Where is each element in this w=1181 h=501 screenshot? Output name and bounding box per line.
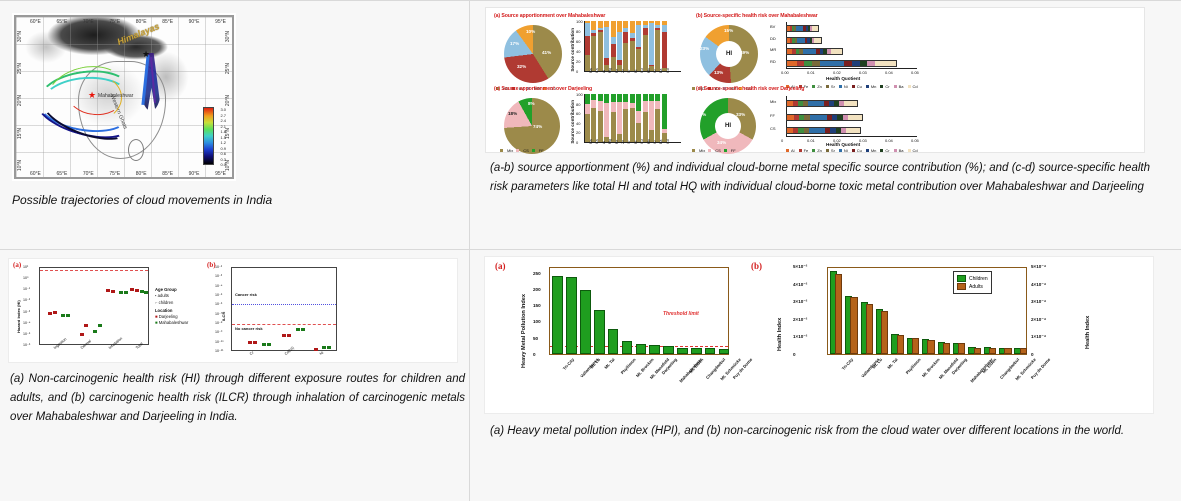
legend-swatch bbox=[786, 149, 789, 152]
bar-segment bbox=[623, 94, 628, 102]
bar-segment bbox=[623, 109, 628, 142]
panel-b-title: (b) Source-specific health risk over Mah… bbox=[696, 13, 818, 19]
ytick: 80 bbox=[576, 29, 580, 34]
donut-b-value-1: 13% bbox=[714, 70, 723, 75]
marker-ilcr-cr-m bbox=[262, 343, 266, 346]
xtick: 0 bbox=[781, 138, 783, 143]
bar-segment bbox=[585, 23, 590, 36]
marker-darjeeling-inhalation-2 bbox=[111, 290, 115, 293]
ytick: 10¹ bbox=[23, 265, 28, 269]
xlabel: Ni bbox=[319, 351, 324, 356]
hbar-segment bbox=[797, 61, 805, 66]
hbar-segment bbox=[846, 128, 860, 133]
hi-world-bar bbox=[989, 348, 996, 354]
xtick: 0.01 bbox=[807, 138, 815, 143]
donut-d-value-0: 33% bbox=[736, 112, 745, 117]
hbar-segment bbox=[820, 61, 845, 66]
xlabel: Al bbox=[602, 141, 606, 144]
stacked-bar bbox=[623, 21, 628, 71]
ytick: 10⁻⁴ bbox=[215, 284, 222, 288]
xtick: 0.00 bbox=[781, 70, 789, 75]
marker-ilcr-cr-m2 bbox=[267, 343, 271, 346]
panel-a-title: (a) Source apportionment over Mahabalesh… bbox=[494, 13, 605, 19]
hpi-xlabel: Phyllimon bbox=[619, 357, 636, 375]
hpi-ytick: 0 bbox=[533, 352, 536, 357]
bar-segment bbox=[617, 32, 622, 60]
hi-world-bar bbox=[866, 304, 873, 354]
hi-world-xlabel: Tri-City bbox=[841, 357, 854, 371]
hbar-label: Mix bbox=[770, 99, 776, 104]
br-panel-b-label: (b) bbox=[751, 261, 762, 271]
map-lat-ticks-left: 30°N25°N20°N15°N10°N bbox=[17, 31, 23, 171]
legend-metal-label: Ba bbox=[899, 84, 904, 89]
marker-ilcr-cd-d2 bbox=[287, 334, 291, 337]
hi-world-ytick-left: 0 bbox=[793, 352, 796, 357]
hi-world-ytick-right: 5×10⁻⁴ bbox=[1031, 264, 1046, 270]
marker-mahabaleshwar-ingestion bbox=[61, 314, 65, 317]
xlabel: Zn bbox=[621, 69, 625, 73]
legend-swatch bbox=[894, 149, 897, 152]
xlabel: Cr bbox=[249, 350, 255, 356]
bar-segment bbox=[649, 94, 654, 101]
legend-metal: Sr bbox=[826, 148, 835, 153]
hbar-segment bbox=[796, 26, 803, 31]
ytick: 10⁻² bbox=[23, 298, 30, 302]
bar-segment bbox=[585, 104, 590, 115]
hpi-ytick: 200 bbox=[533, 287, 541, 292]
legend-age-children: ⌐ children bbox=[155, 300, 188, 306]
hi-legend: Age Group ▪ adults ⌐ children Location ■… bbox=[155, 287, 188, 327]
hpi-xlabel: Tri-City bbox=[562, 357, 575, 371]
scatter-plot-hi bbox=[39, 267, 149, 345]
site-marker-darjeeling: ★ bbox=[142, 50, 150, 59]
ytick: 40 bbox=[576, 121, 580, 126]
ytick: 20 bbox=[576, 59, 580, 64]
legend-swatch bbox=[908, 149, 911, 152]
ilcr-no-cancer-risk-label: No cancer risk bbox=[235, 326, 263, 331]
bar-segment bbox=[591, 108, 596, 142]
xlabel: Sr bbox=[627, 69, 631, 73]
hpi-bar bbox=[677, 348, 688, 354]
pie-c-value-1: 18% bbox=[508, 111, 517, 116]
xlabel: Na bbox=[589, 68, 593, 73]
panel-d-xlabel: Health Quotient bbox=[826, 142, 860, 147]
cell-bottom-right: (a) Heavy Metal Pollution Index Threshol… bbox=[470, 250, 1181, 501]
donut-b-value-0: 49% bbox=[740, 50, 749, 55]
bar-segment bbox=[617, 21, 622, 32]
xlabel: Mg bbox=[608, 139, 612, 144]
hbar-segment bbox=[848, 115, 863, 120]
legend-metal-label: Zn bbox=[817, 84, 822, 89]
hi-world-ytick-left: 2×10⁻² bbox=[793, 317, 807, 323]
legend-metal: Ni bbox=[839, 84, 848, 89]
marker-mahabaleshwar-inhalation bbox=[119, 291, 123, 294]
legend-metal-label: Fe bbox=[804, 148, 809, 153]
marker-ilcr-ni-m2 bbox=[327, 346, 331, 349]
donut-d-value-2: 33% bbox=[697, 112, 706, 117]
ilcr-cancer-risk-label: Cancer risk bbox=[235, 292, 257, 297]
marker-darjeeling-total-2 bbox=[135, 289, 139, 292]
bar-segment bbox=[649, 23, 654, 65]
bar-segment bbox=[598, 94, 603, 101]
xtick: 0.04 bbox=[885, 70, 893, 75]
hpi-bar bbox=[622, 341, 633, 354]
map-colorbar bbox=[203, 107, 214, 165]
ytick: 10⁻⁶ bbox=[215, 302, 222, 306]
ytick: 40 bbox=[576, 49, 580, 54]
xlabel: Ba bbox=[659, 69, 663, 73]
hbar-label: CS bbox=[770, 126, 776, 131]
legend-metal-label: Sr bbox=[831, 148, 835, 153]
bar-segment bbox=[611, 94, 616, 102]
bar-segment bbox=[623, 32, 628, 43]
hi-world-bar bbox=[912, 338, 919, 354]
marker-mahabaleshwar-total-2 bbox=[144, 291, 148, 294]
ytick: 60 bbox=[576, 39, 580, 44]
hi-world-ytick-right: 4×10⁻⁴ bbox=[1031, 282, 1046, 288]
hi-world-ytick-left: 5×10⁻² bbox=[793, 264, 807, 270]
legend-swatch bbox=[839, 149, 842, 152]
hi-world-bar bbox=[1004, 348, 1011, 354]
xtick: 0.04 bbox=[885, 138, 893, 143]
figure-grid: Himalayas Western Ghats ★ ★ Mahabaleshwa… bbox=[0, 0, 1181, 501]
bar-segment bbox=[604, 27, 609, 58]
legend-metal-label: Cd bbox=[913, 84, 918, 89]
br-panel-a-label: (a) bbox=[495, 261, 506, 271]
stacked-bar bbox=[611, 21, 616, 71]
hi-world-xlabel: Phyllimon bbox=[904, 357, 921, 375]
panel-c-ylabel: Source contribution bbox=[570, 100, 575, 144]
hi-world-plot bbox=[827, 267, 1027, 355]
xlabel: Cd bbox=[666, 139, 670, 144]
donut-b-value-3: 15% bbox=[724, 28, 733, 33]
marker-darjeeling-inhalation bbox=[106, 289, 110, 292]
hi-ylabel: Hazard Index (HI) bbox=[16, 277, 21, 333]
xlabel: Zn bbox=[621, 140, 625, 144]
legend-location-mahabaleshwar: ■ Mahabaleshwar bbox=[155, 320, 188, 326]
marker-ilcr-cd-d bbox=[282, 334, 286, 337]
stacked-bar bbox=[604, 94, 609, 142]
ytick: 100 bbox=[576, 92, 583, 97]
hi-world-ytick-left: 3×10⁻² bbox=[793, 299, 807, 305]
ytick: 10⁻¹ bbox=[23, 287, 30, 291]
legend-metal-label: Mn bbox=[871, 148, 877, 153]
hpi-xlabel: Mt. Lu bbox=[589, 357, 601, 370]
bar-segment bbox=[655, 101, 660, 110]
xlabel: Mg bbox=[608, 68, 612, 73]
coastline-srilanka bbox=[128, 139, 144, 161]
figure-hpi: (a) Heavy Metal Pollution Index Threshol… bbox=[484, 256, 1154, 414]
ytick: 80 bbox=[576, 102, 580, 107]
map-lon-ticks-top: 60°E65°E70°E75°E80°E85°E90°E95°E bbox=[30, 19, 226, 25]
legend-metal: Mn bbox=[866, 148, 877, 153]
ytick: 10⁻⁶ bbox=[23, 343, 30, 347]
hpi-bar bbox=[649, 345, 660, 354]
hbar-stack bbox=[786, 127, 861, 134]
xlabel: Ni bbox=[634, 70, 638, 73]
stacked-bar bbox=[655, 21, 660, 71]
legend-swatch bbox=[812, 149, 815, 152]
bar-segment bbox=[617, 94, 622, 102]
bar-segment bbox=[598, 32, 603, 71]
hpi-bar bbox=[608, 329, 619, 354]
bar-segment bbox=[643, 112, 648, 142]
ytick: 20 bbox=[576, 130, 580, 135]
legend-metal: Cd bbox=[908, 84, 918, 89]
hbar-segment bbox=[852, 61, 860, 66]
pie-a-value-1: 32% bbox=[517, 64, 526, 69]
legend-metal: Zn bbox=[812, 148, 822, 153]
pie-chart-c bbox=[504, 98, 560, 154]
hbar-label: MR bbox=[770, 47, 776, 52]
bar-segment bbox=[623, 102, 628, 110]
ytick: 10⁻⁸ bbox=[215, 321, 222, 325]
legend-item-children: Children bbox=[957, 275, 988, 282]
donut-b-value-2: 23% bbox=[700, 46, 709, 51]
pie-a-value-3: 10% bbox=[526, 29, 535, 34]
stacked-bar bbox=[649, 21, 654, 71]
stacked-bar bbox=[611, 94, 616, 142]
bar-segment bbox=[611, 37, 616, 44]
hpi-ytick: 50 bbox=[533, 336, 538, 341]
hbar-segment bbox=[844, 61, 852, 66]
hpi-bar bbox=[691, 348, 702, 354]
xlabel: Cr bbox=[653, 69, 657, 73]
panel-a-stacked-bars bbox=[585, 21, 680, 71]
legend-metal: Ba bbox=[894, 148, 904, 153]
cell-bottom-left: (a) bbox=[0, 250, 470, 501]
hpi-bar bbox=[580, 290, 591, 354]
bar-segment bbox=[655, 94, 660, 101]
hpi-bar bbox=[719, 349, 730, 354]
bar-segment bbox=[611, 112, 616, 142]
ytick: 0 bbox=[576, 140, 578, 145]
marker-darjeeling-ingestion-2 bbox=[53, 311, 57, 314]
marker-darjeeling-total bbox=[130, 288, 134, 291]
ytick: 10⁻³ bbox=[215, 274, 222, 278]
xlabel: Al bbox=[602, 70, 606, 73]
hi-world-bar bbox=[958, 343, 965, 354]
legend-swatch bbox=[852, 149, 855, 152]
pie-c-legend: Mix CS FF bbox=[500, 148, 544, 153]
legend-swatch bbox=[908, 85, 911, 88]
hpi-bar bbox=[636, 344, 647, 354]
legend-metal-label: Ni bbox=[844, 84, 848, 89]
xlabel: Sr bbox=[627, 140, 631, 144]
bar-segment bbox=[655, 109, 660, 142]
hi-world-bar bbox=[927, 340, 934, 354]
hpi-threshold-label: Threshold limit bbox=[663, 311, 699, 317]
stacked-bar bbox=[649, 94, 654, 142]
stacked-bar bbox=[662, 21, 667, 71]
legend-metal-label: Cu bbox=[857, 84, 862, 89]
legend-metal: Cr bbox=[880, 148, 889, 153]
legend-swatch bbox=[894, 85, 897, 88]
hi-world-bar bbox=[974, 348, 981, 354]
scatter-plot-ilcr: Cancer risk No cancer risk bbox=[231, 267, 337, 351]
hbar-segment bbox=[808, 101, 824, 106]
hbar-segment bbox=[831, 49, 842, 54]
bar-segment bbox=[636, 111, 641, 123]
xlabel: Cu bbox=[640, 139, 644, 144]
legend-swatch bbox=[866, 149, 869, 152]
marker-mahabaleshwar-dermal bbox=[93, 330, 97, 333]
bar-segment bbox=[630, 108, 635, 142]
xlabel: Cu bbox=[640, 68, 644, 73]
legend-metal: Fe bbox=[799, 148, 809, 153]
hpi-plot bbox=[549, 267, 729, 355]
bar-segment bbox=[636, 25, 641, 47]
xlabel: Ba bbox=[659, 140, 663, 144]
xlabel: Ni bbox=[634, 141, 638, 144]
bar-segment bbox=[591, 100, 596, 109]
stacked-bar bbox=[598, 21, 603, 71]
hbar-segment bbox=[810, 115, 827, 120]
hbar-label: BV bbox=[770, 24, 775, 29]
legend-metal: Ba bbox=[894, 84, 904, 89]
legend-metal: Mn bbox=[866, 84, 877, 89]
hi-world-ylabel-right: Health Index bbox=[1085, 283, 1091, 349]
marker-mahabaleshwar-ingestion-2 bbox=[66, 314, 70, 317]
legend-swatch bbox=[880, 149, 883, 152]
legend-metal: Al bbox=[786, 148, 795, 153]
caption-top-left: Possible trajectories of cloud movements… bbox=[12, 191, 432, 211]
hi-world-ytick-right: 1×10⁻⁴ bbox=[1031, 334, 1046, 340]
hpi-ytick: 150 bbox=[533, 303, 541, 308]
legend-metal: Cr bbox=[880, 84, 889, 89]
hbar-label: DD bbox=[770, 36, 776, 41]
hbar-segment bbox=[860, 61, 868, 66]
bar-segment bbox=[630, 41, 635, 71]
stacked-bar bbox=[585, 94, 590, 142]
xtick: 0.03 bbox=[859, 70, 867, 75]
panel-c-stacked-bars bbox=[585, 94, 680, 142]
marker-darjeeling-dermal bbox=[80, 333, 84, 336]
pie-c-value-0: 74% bbox=[533, 124, 542, 129]
stacked-bar bbox=[662, 94, 667, 142]
ytick: 10⁻² bbox=[215, 265, 222, 269]
legend-metal-label: Cr bbox=[885, 148, 889, 153]
panel-a-ylabel: Source contribution bbox=[570, 28, 575, 72]
hi-world-ytick-left: 4×10⁻² bbox=[793, 282, 807, 288]
hi-world-bar bbox=[1020, 348, 1027, 354]
bar-segment bbox=[585, 36, 590, 55]
hbar-stack bbox=[786, 60, 897, 67]
hpi-bar bbox=[552, 276, 563, 354]
hbar-stack bbox=[786, 114, 863, 121]
bar-segment bbox=[617, 102, 622, 135]
hbar-segment bbox=[787, 115, 794, 120]
hi-world-ytick-left: 1×10⁻² bbox=[793, 334, 807, 340]
bar-segment bbox=[623, 21, 628, 28]
panel-d-title: (d) Source-specific health risk over Dar… bbox=[696, 86, 804, 92]
xlabel: Fe bbox=[615, 140, 619, 144]
xlabel: Ca bbox=[595, 68, 599, 73]
legend-swatch bbox=[866, 85, 869, 88]
stacked-bar bbox=[643, 21, 648, 71]
ytick: 10⁻⁵ bbox=[23, 332, 30, 336]
marker-darjeeling-ingestion bbox=[48, 312, 52, 315]
legend-swatch bbox=[812, 85, 815, 88]
hbar-stack bbox=[786, 100, 858, 107]
bar-segment bbox=[643, 28, 648, 35]
marker-darjeeling-dermal-2 bbox=[84, 324, 88, 327]
legend-metal-label: Sr bbox=[831, 84, 835, 89]
marker-mahabaleshwar-dermal-2 bbox=[98, 324, 102, 327]
ytick: 10⁻⁹ bbox=[215, 330, 222, 334]
cell-top-left: Himalayas Western Ghats ★ ★ Mahabaleshwa… bbox=[0, 0, 470, 250]
ytick: 10⁰ bbox=[23, 276, 28, 280]
hi-world-bar bbox=[835, 274, 842, 354]
ytick: 10⁻¹¹ bbox=[215, 349, 223, 353]
hi-world-bar bbox=[850, 297, 857, 354]
hbar-stack bbox=[786, 48, 843, 55]
legend-swatch bbox=[852, 85, 855, 88]
hi-world-ytick-right: 3×10⁻⁴ bbox=[1031, 299, 1046, 305]
hpi-ytick: 100 bbox=[533, 319, 541, 324]
bar-segment bbox=[585, 94, 590, 104]
cloud-trajectory-map: Himalayas Western Ghats ★ ★ Mahabaleshwa… bbox=[12, 13, 236, 181]
legend-metal: Sr bbox=[826, 84, 835, 89]
donut-d-value-1: 34% bbox=[717, 140, 726, 145]
hbar-segment bbox=[809, 128, 826, 133]
bar-segment bbox=[591, 21, 596, 30]
hbar-segment bbox=[803, 49, 815, 54]
bar-segment bbox=[604, 94, 609, 103]
legend-swatch bbox=[826, 85, 829, 88]
pie-a-value-2: 17% bbox=[510, 41, 519, 46]
hbar-segment bbox=[812, 26, 818, 31]
panel-d-metal-legend: AlFeZnSrNiCuMnCrBaCd bbox=[786, 148, 936, 153]
bar-segment bbox=[662, 25, 667, 32]
marker-ilcr-ni-m bbox=[322, 346, 326, 349]
hbar-segment bbox=[797, 38, 805, 43]
marker-ilcr-cd-m bbox=[296, 328, 300, 331]
hi-world-bar bbox=[943, 343, 950, 354]
hbar-segment bbox=[814, 38, 821, 43]
legend-metal-label: Cr bbox=[885, 84, 889, 89]
stacked-bar bbox=[636, 94, 641, 142]
hi-world-bar bbox=[881, 311, 888, 354]
bar-segment bbox=[643, 35, 648, 71]
panel-b-xlabel: Health Quotient bbox=[826, 76, 860, 81]
ytick: 10⁻¹⁰ bbox=[215, 340, 224, 344]
hpi-ylabel: Heavy Metal Pollution Index bbox=[521, 273, 527, 368]
bar-segment bbox=[611, 102, 616, 113]
bar-segment bbox=[662, 94, 667, 129]
legend-metal-label: Cd bbox=[913, 148, 918, 153]
legend-metal: Cu bbox=[852, 84, 862, 89]
bar-segment bbox=[662, 32, 667, 68]
xlabel: Cd bbox=[666, 68, 670, 73]
xtick: 0.02 bbox=[833, 70, 841, 75]
xtick: 0.01 bbox=[807, 70, 815, 75]
xlabel: Mn bbox=[647, 68, 651, 73]
bl-panel-a-label: (a) bbox=[13, 261, 21, 269]
figure-source-apportionment: (a) Source apportionment over Mahabalesh… bbox=[485, 7, 1145, 153]
stacked-bar bbox=[598, 94, 603, 142]
hi-world-xlabel: Mt. Tai bbox=[887, 357, 899, 370]
bar-segment bbox=[598, 21, 603, 28]
bar-segment bbox=[655, 30, 660, 71]
stacked-bar bbox=[630, 21, 635, 71]
legend-item-adults: Adults bbox=[957, 283, 988, 290]
hi-world-ylabel: Health Index bbox=[777, 279, 783, 351]
bar-segment bbox=[598, 111, 603, 142]
ytick: 60 bbox=[576, 111, 580, 116]
xlabel: Cr bbox=[653, 140, 657, 144]
ytick: 0 bbox=[576, 69, 578, 74]
